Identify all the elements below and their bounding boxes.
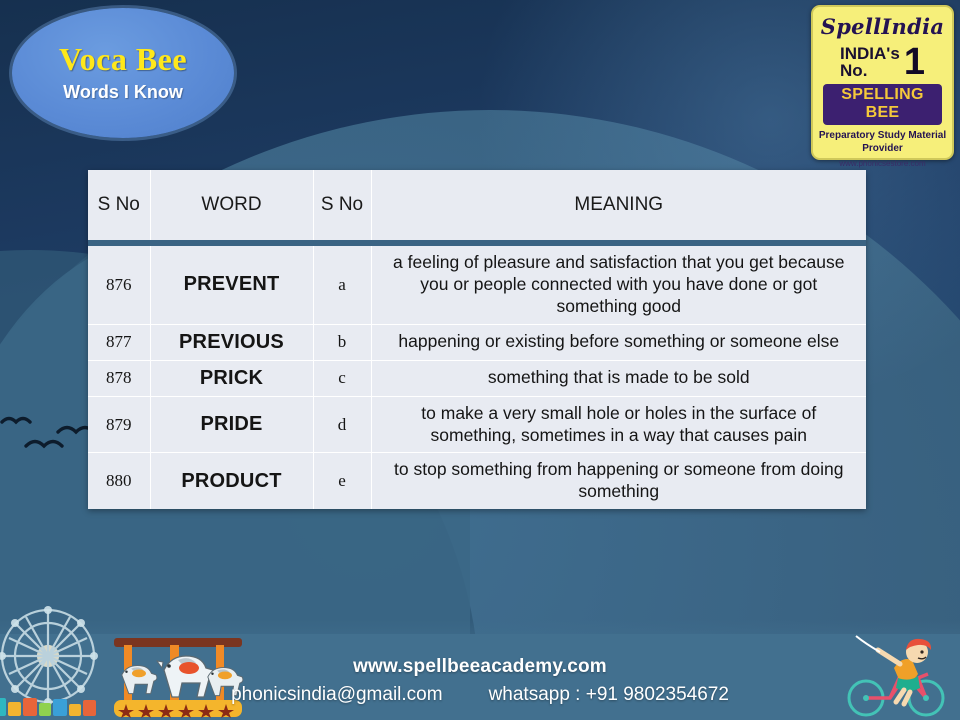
spellindia-tagline-line2: Provider xyxy=(817,143,948,156)
spellindia-indias-text: INDIA's xyxy=(840,45,900,62)
footer-contact-row: phonicsindia@gmail.com whatsapp : +91 98… xyxy=(0,684,960,706)
table-row: 877 PREVIOUS b happening or existing bef… xyxy=(88,324,866,360)
footer-contact: www.spellbeeacademy.com phonicsindia@gma… xyxy=(0,656,960,706)
column-header-word: WORD xyxy=(150,170,313,243)
vocabulary-table-container: S No WORD S No MEANING 876 PREVENT a a f… xyxy=(88,170,866,509)
slide-canvas: Voca Bee Words I Know SpellIndia INDIA's… xyxy=(0,0,960,720)
cell-sno: 879 xyxy=(88,396,150,453)
cell-word: PRODUCT xyxy=(150,453,313,509)
cell-meaning: to make a very small hole or holes in th… xyxy=(371,396,866,453)
cell-sno: 880 xyxy=(88,453,150,509)
table-header: S No WORD S No MEANING xyxy=(88,170,866,243)
table-row: 880 PRODUCT e to stop something from hap… xyxy=(88,453,866,509)
spellindia-rank-label: INDIA's No. xyxy=(840,45,900,79)
spellindia-rank-number: 1 xyxy=(904,46,925,78)
spellindia-spelling-bee-banner: SPELLING BEE xyxy=(823,84,942,125)
voca-bee-subtitle: Words I Know xyxy=(63,82,183,103)
cell-word: PRIDE xyxy=(150,396,313,453)
cell-word: PRICK xyxy=(150,360,313,396)
cell-letter: d xyxy=(313,396,371,453)
footer-whatsapp[interactable]: whatsapp : +91 9802354672 xyxy=(489,684,729,706)
cell-letter: e xyxy=(313,453,371,509)
column-header-sno2: S No xyxy=(313,170,371,243)
table-row: 879 PRIDE d to make a very small hole or… xyxy=(88,396,866,453)
cell-letter: b xyxy=(313,324,371,360)
cell-meaning: a feeling of pleasure and satisfaction t… xyxy=(371,243,866,324)
cell-meaning: happening or existing before something o… xyxy=(371,324,866,360)
cell-meaning: to stop something from happening or some… xyxy=(371,453,866,509)
table-header-row: S No WORD S No MEANING xyxy=(88,170,866,243)
vocabulary-table: S No WORD S No MEANING 876 PREVENT a a f… xyxy=(88,170,866,509)
footer-email[interactable]: phonicsindia@gmail.com xyxy=(231,684,443,706)
voca-bee-title: Voca Bee xyxy=(59,43,187,77)
cell-sno: 876 xyxy=(88,243,150,324)
table-body: 876 PREVENT a a feeling of pleasure and … xyxy=(88,243,866,509)
voca-bee-logo: Voca Bee Words I Know xyxy=(12,8,234,138)
cell-letter: c xyxy=(313,360,371,396)
cell-word: PREVIOUS xyxy=(150,324,313,360)
spellindia-tagline-line1: Preparatory Study Material xyxy=(817,130,948,143)
spellindia-rank-row: INDIA's No. 1 xyxy=(817,45,948,79)
spellindia-no-text: No. xyxy=(840,62,900,79)
table-row: 878 PRICK c something that is made to be… xyxy=(88,360,866,396)
table-row: 876 PREVENT a a feeling of pleasure and … xyxy=(88,243,866,324)
spellindia-badge: SpellIndia INDIA's No. 1 SPELLING BEE Pr… xyxy=(811,5,954,160)
spellindia-brand-name: SpellIndia xyxy=(817,14,948,39)
cell-meaning: something that is made to be sold xyxy=(371,360,866,396)
cell-word: PREVENT xyxy=(150,243,313,324)
cell-letter: a xyxy=(313,243,371,324)
cell-sno: 877 xyxy=(88,324,150,360)
spellindia-url: www.phonicsestore.com xyxy=(817,159,948,168)
column-header-sno: S No xyxy=(88,170,150,243)
column-header-meaning: MEANING xyxy=(371,170,866,243)
cell-sno: 878 xyxy=(88,360,150,396)
footer-website[interactable]: www.spellbeeacademy.com xyxy=(0,656,960,678)
spellindia-tagline: Preparatory Study Material Provider xyxy=(817,130,948,155)
